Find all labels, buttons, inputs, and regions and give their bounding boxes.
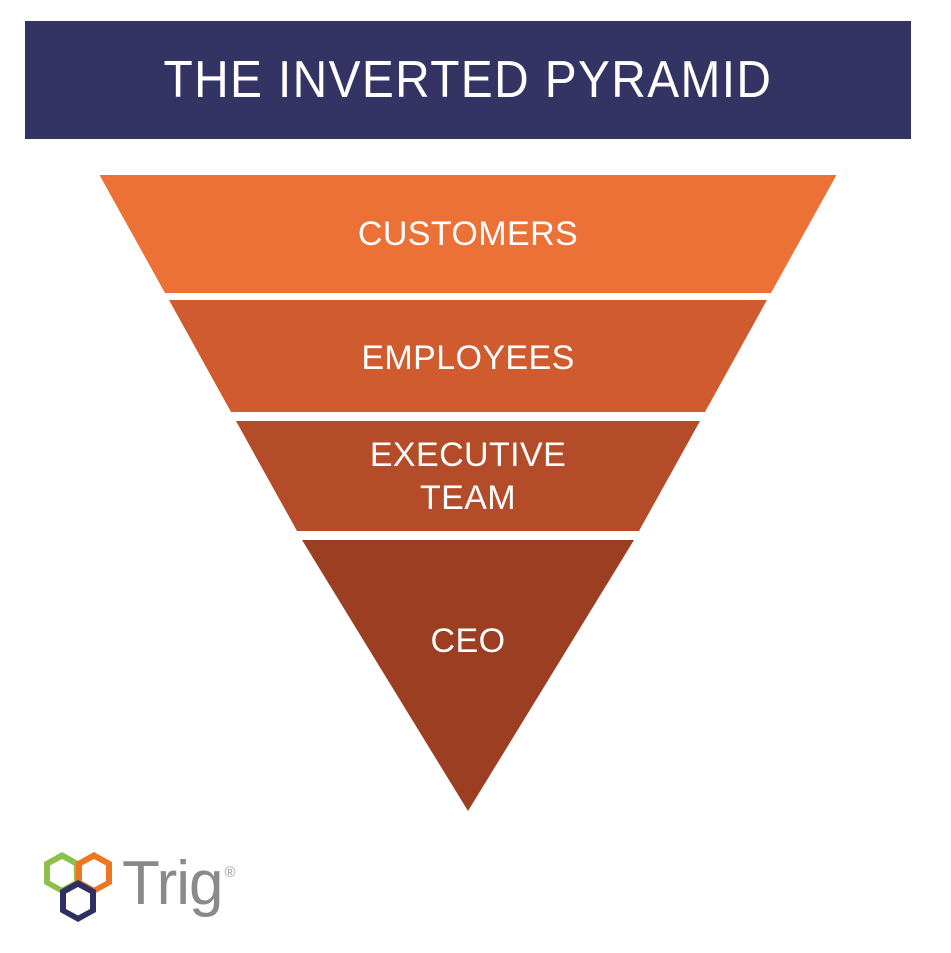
- title-banner: THE INVERTED PYRAMID: [25, 21, 911, 139]
- trig-logo[interactable]: Trig ®: [40, 843, 230, 925]
- registered-trademark-icon: ®: [224, 865, 235, 880]
- inverted-pyramid-diagram: CUSTOMERS EMPLOYEES EXECUTIVE TEAM CEO: [0, 0, 951, 953]
- trig-cube-icon: [40, 844, 116, 924]
- page-title: THE INVERTED PYRAMID: [164, 54, 773, 106]
- trig-wordmark-text: Trig: [122, 855, 222, 914]
- pyramid-segment-ceo[interactable]: CEO: [302, 540, 634, 811]
- segment-shape-executive-team: [236, 421, 700, 531]
- segment-label-ceo: CEO: [431, 622, 506, 660]
- trig-wordmark: Trig ®: [122, 855, 236, 914]
- segment-label-executive-team-line1: EXECUTIVE: [370, 436, 566, 474]
- segment-label-employees: EMPLOYEES: [361, 339, 574, 377]
- segment-shape-customers: [100, 175, 837, 293]
- pyramid-segment-employees[interactable]: EMPLOYEES: [169, 300, 767, 412]
- segment-label-customers: CUSTOMERS: [358, 215, 578, 253]
- segment-label-executive-team-line2: TEAM: [420, 479, 516, 517]
- segment-shape-employees: [169, 300, 767, 412]
- pyramid-svg: CUSTOMERS EMPLOYEES EXECUTIVE TEAM CEO: [0, 0, 951, 953]
- pyramid-segment-customers[interactable]: CUSTOMERS: [100, 175, 837, 293]
- segment-shape-ceo: [302, 540, 634, 811]
- infographic-canvas: THE INVERTED PYRAMID CUSTOMERS EMPLOYEES…: [0, 0, 951, 953]
- pyramid-segment-executive-team[interactable]: EXECUTIVE TEAM: [236, 421, 700, 531]
